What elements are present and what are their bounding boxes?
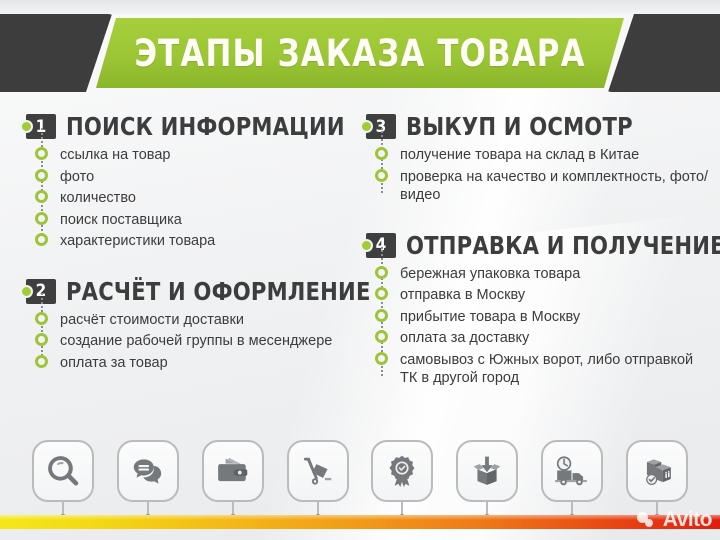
list-item: характеристики товара	[26, 232, 366, 251]
column-right: 3 ВЫКУП И ОСМОТР получение товара на скл…	[366, 112, 712, 391]
bullet-dot-icon	[375, 352, 388, 365]
section-4-title: ОТПРАВКА И ПОЛУЧЕНИЕ	[406, 231, 720, 260]
list-item: расчёт стоимости доставки	[26, 311, 366, 330]
infographic-root: ЭТАПЫ ЗАКАЗА ТОВАРА 1 ПОИСК ИНФОРМАЦИИ с…	[0, 0, 720, 540]
list-item-label: ссылка на товар	[60, 146, 366, 165]
quality-badge-icon	[385, 454, 419, 488]
magnifier-icon	[46, 454, 80, 488]
section-4: 4 ОТПРАВКА И ПОЛУЧЕНИЕ бережная упаковка…	[366, 231, 712, 388]
chat-bubbles-icon	[131, 454, 165, 488]
list-item-label: бережная упаковка товара	[400, 265, 712, 284]
section-1: 1 ПОИСК ИНФОРМАЦИИ ссылка на товар фото …	[26, 112, 366, 251]
bullet-dot-icon	[375, 330, 388, 343]
icon-tile-wallet	[202, 440, 264, 502]
bullet-dot-icon	[35, 147, 48, 160]
list-item-label: количество	[60, 189, 366, 208]
section-2-list: расчёт стоимости доставки создание рабоч…	[26, 311, 366, 373]
section-2: 2 РАСЧЁТ И ОФОРМЛЕНИЕ расчёт стоимости д…	[26, 277, 366, 373]
column-left: 1 ПОИСК ИНФОРМАЦИИ ссылка на товар фото …	[26, 112, 366, 375]
list-item: оплата за доставку	[366, 329, 712, 348]
list-item: фото	[26, 168, 366, 187]
list-item-label: прибытие товара в Москву	[400, 308, 712, 327]
delivery-truck-clock-icon	[554, 454, 590, 488]
list-item-label: проверка на качество и комплектность, фо…	[400, 168, 712, 205]
list-item: бережная упаковка товара	[366, 265, 712, 284]
section-4-list: бережная упаковка товара отправка в Моск…	[366, 265, 712, 388]
list-item-label: оплата за товар	[60, 354, 366, 373]
bullet-dot-icon	[35, 355, 48, 368]
bullet-dot-icon	[375, 309, 388, 322]
list-item: ссылка на товар	[26, 146, 366, 165]
icon-tile-delivery	[541, 440, 603, 502]
list-item: отправка в Москву	[366, 286, 712, 305]
header-banner: ЭТАПЫ ЗАКАЗА ТОВАРА	[0, 14, 720, 92]
avito-logo-icon	[637, 510, 659, 530]
progress-bar-shine	[0, 515, 720, 520]
icon-tile-hand-truck	[287, 440, 349, 502]
list-item-label: поиск поставщика	[60, 211, 366, 230]
list-item: проверка на качество и комплектность, фо…	[366, 168, 712, 205]
section-2-title: РАСЧЁТ И ОФОРМЛЕНИЕ	[66, 277, 371, 306]
progress-gradient-bar	[0, 515, 720, 529]
bullet-dot-icon	[375, 147, 388, 160]
section-2-head: 2 РАСЧЁТ И ОФОРМЛЕНИЕ	[26, 277, 366, 306]
list-item: количество	[26, 189, 366, 208]
list-item-label: характеристики товара	[60, 232, 366, 251]
bullet-dot-icon	[35, 312, 48, 325]
background-top-strip	[0, 0, 720, 14]
page-title: ЭТАПЫ ЗАКАЗА ТОВАРА	[25, 14, 695, 92]
icon-tile-search	[32, 440, 94, 502]
list-item-label: фото	[60, 168, 366, 187]
list-item-label: получение товара на склад в Китае	[400, 146, 712, 165]
section-3-list: получение товара на склад в Китае провер…	[366, 146, 712, 205]
section-1-title: ПОИСК ИНФОРМАЦИИ	[66, 112, 345, 141]
bullet-dot-icon	[35, 233, 48, 246]
avito-watermark: Avito	[637, 505, 712, 535]
section-3-head: 3 ВЫКУП И ОСМОТР	[366, 112, 712, 141]
bullet-dot-icon	[35, 333, 48, 346]
list-item-label: создание рабочей группы в месенджере	[60, 332, 366, 351]
box-packing-icon	[470, 454, 504, 488]
icon-tile-quality	[371, 440, 433, 502]
list-item: получение товара на склад в Китае	[366, 146, 712, 165]
bullet-dot-icon	[35, 190, 48, 203]
section-1-list: ссылка на товар фото количество поиск по…	[26, 146, 366, 251]
bullet-dot-icon	[375, 266, 388, 279]
list-item: самовывоз с Южных ворот, либо отправкой …	[366, 351, 712, 388]
list-item-label: оплата за доставку	[400, 329, 712, 348]
hand-truck-icon	[301, 454, 335, 488]
list-item: прибытие товара в Москву	[366, 308, 712, 327]
list-item-label: отправка в Москву	[400, 286, 712, 305]
icon-tile-chat	[117, 440, 179, 502]
icon-tile-received	[626, 440, 688, 502]
bullet-dot-icon	[375, 169, 388, 182]
icon-tile-packing	[456, 440, 518, 502]
boxes-check-icon	[640, 454, 674, 488]
bullet-dot-icon	[375, 287, 388, 300]
section-1-head: 1 ПОИСК ИНФОРМАЦИИ	[26, 112, 366, 141]
list-item: поиск поставщика	[26, 211, 366, 230]
list-item: создание рабочей группы в месенджере	[26, 332, 366, 351]
list-item-label: расчёт стоимости доставки	[60, 311, 366, 330]
bullet-dot-icon	[35, 169, 48, 182]
section-3-title: ВЫКУП И ОСМОТР	[406, 112, 633, 141]
avito-watermark-label: Avito	[663, 508, 712, 532]
bullet-dot-icon	[35, 212, 48, 225]
icon-strip	[0, 440, 720, 510]
section-3: 3 ВЫКУП И ОСМОТР получение товара на скл…	[366, 112, 712, 205]
list-item-label: самовывоз с Южных ворот, либо отправкой …	[400, 351, 712, 388]
wallet-icon	[216, 454, 250, 488]
list-item: оплата за товар	[26, 354, 366, 373]
section-4-head: 4 ОТПРАВКА И ПОЛУЧЕНИЕ	[366, 231, 712, 260]
